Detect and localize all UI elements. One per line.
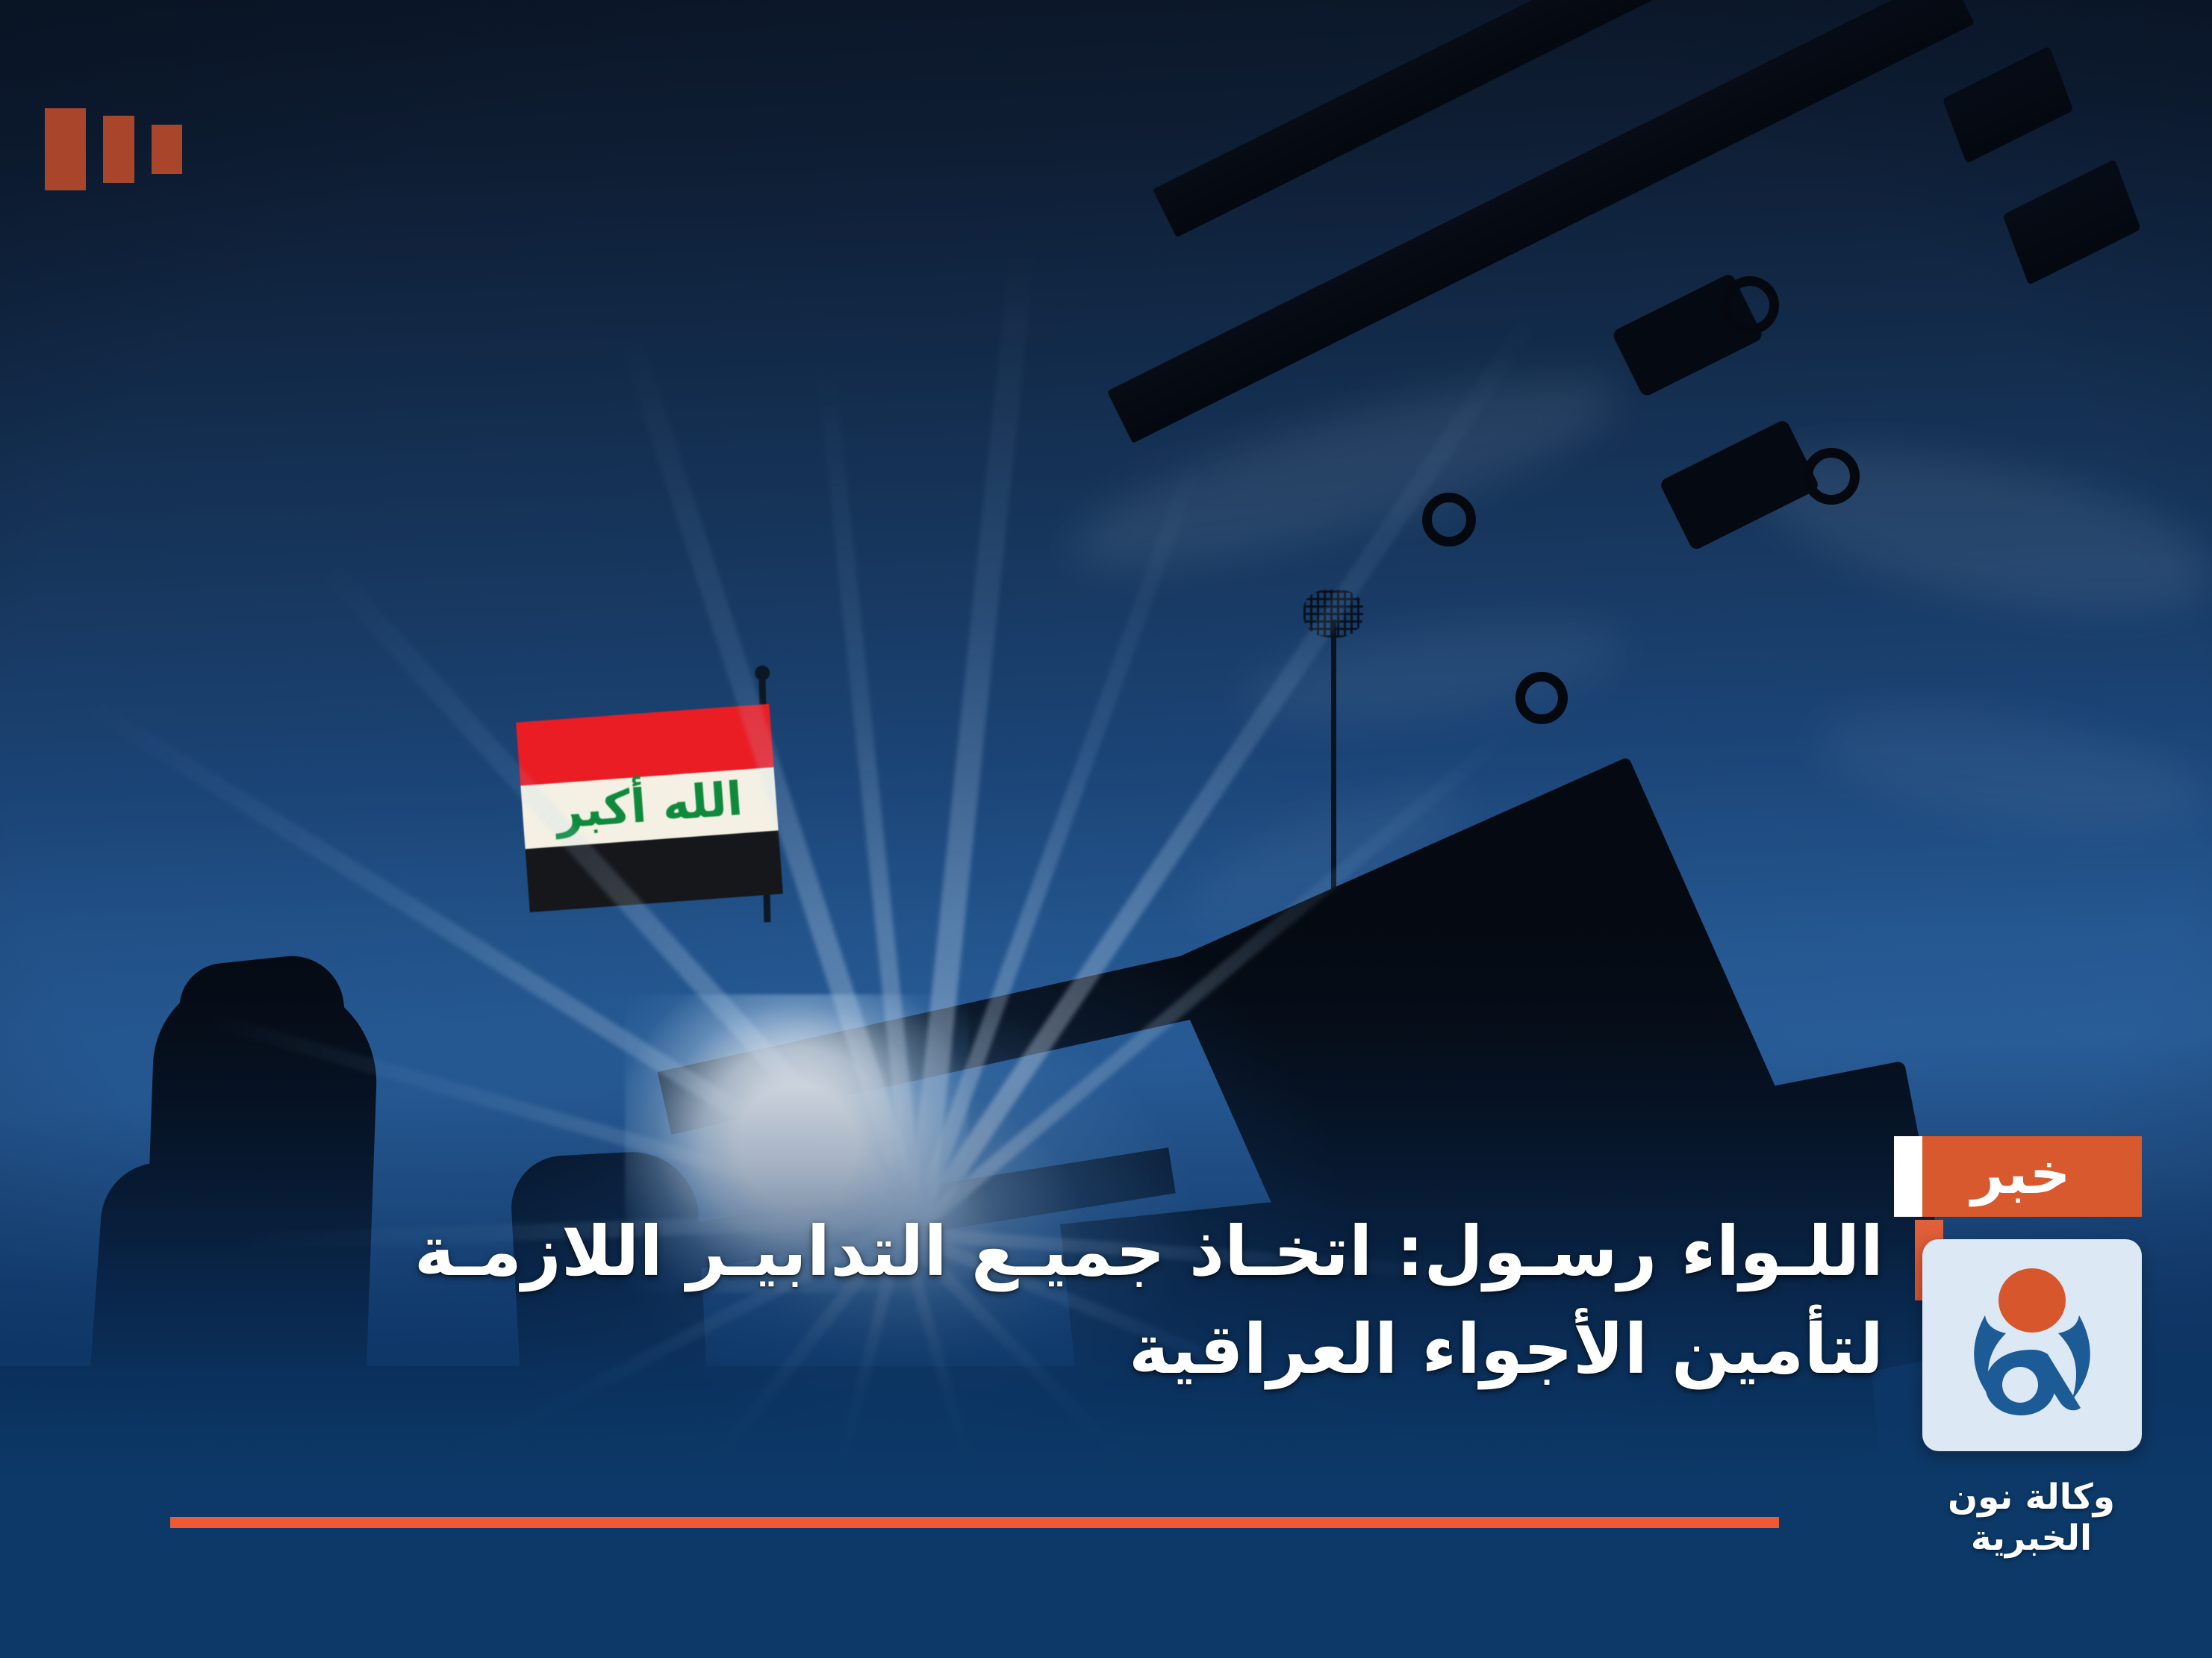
headline: اللـواء رسـول: اتخـاذ جميـع التدابيـر ال…	[301, 1203, 1884, 1398]
headline-line-1: اللـواء رسـول: اتخـاذ جميـع التدابيـر ال…	[301, 1203, 1884, 1301]
badge-white-tick	[1894, 1136, 1922, 1217]
mark-bar-short	[152, 125, 182, 174]
brand-column: خبر وكالة نون الخبرية	[1889, 1136, 2158, 1559]
news-badge: خبر	[1922, 1136, 2142, 1217]
agency-logo	[1922, 1239, 2142, 1451]
noon-logo-icon	[1946, 1262, 2118, 1430]
news-card: الله أكبر	[0, 0, 2212, 1658]
news-photo: الله أكبر	[0, 0, 2212, 1658]
mark-bar-tall	[45, 108, 86, 190]
separator-rule	[170, 1517, 1779, 1528]
agency-name: وكالة نون الخبرية	[1904, 1477, 2158, 1559]
news-badge-label: خبر	[1971, 1145, 2093, 1208]
headline-line-2: لتأمين الأجواء العراقية	[301, 1301, 1884, 1399]
mark-bar-mid	[103, 116, 134, 183]
three-bars-mark	[45, 108, 182, 190]
